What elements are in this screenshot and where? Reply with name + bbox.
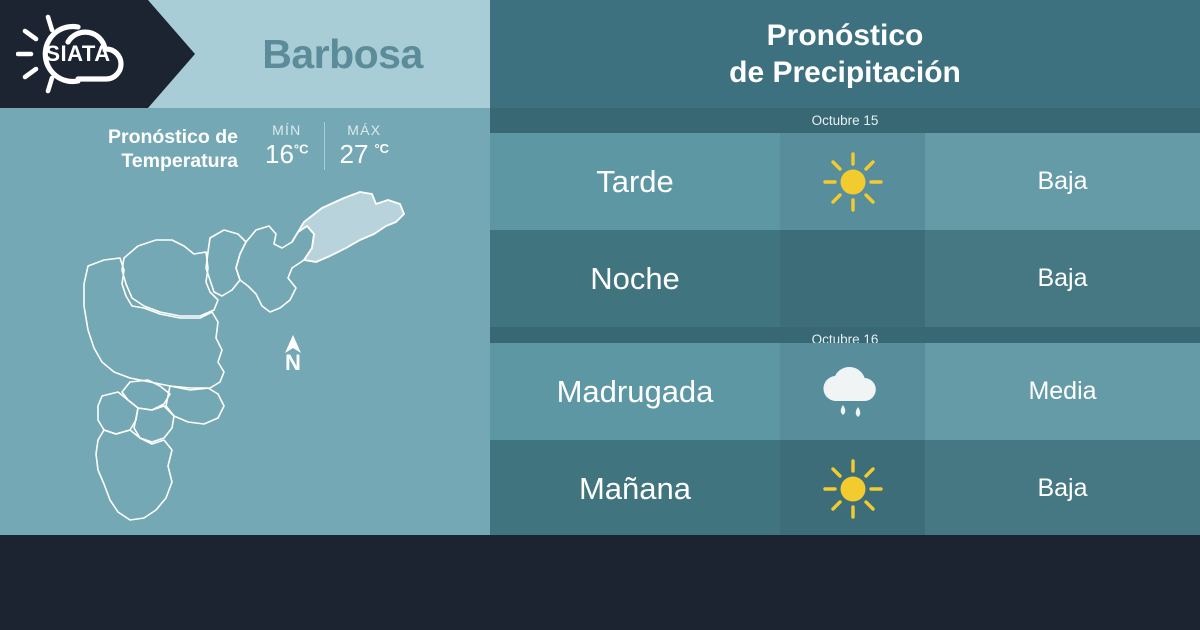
temperature-max-unit: °C [374,141,389,156]
precipitation-level: Baja [925,440,1200,537]
forecast-period: Tarde [490,133,780,230]
temperature-max-value: 27 [340,139,369,169]
precipitation-level: Media [925,343,1200,440]
forecast-row: Mañana Baja [490,440,1200,537]
temperature-max: MÁX 27°C [325,122,399,170]
temperature-summary: Pronóstico de Temperatura MÍN 16°C MÁX 2… [60,122,460,184]
temperature-min-value-wrap: 16°C [265,139,309,170]
compass-label: N [285,353,301,373]
forecast-title-line2: de Precipitación [729,54,961,91]
temperature-title-line1: Pronóstico de [108,126,238,148]
map-region-copacabana [206,230,246,296]
forecast-period: Mañana [490,440,780,537]
forecast-title-line1: Pronóstico [767,17,924,54]
precipitation-level: Baja [925,230,1200,327]
date-band-day1: Octubre 15 [490,108,1200,133]
map-region-la-estrella [134,406,174,442]
forecast-row: Madrugada Media [490,343,1200,440]
temperature-max-value-wrap: 27°C [340,139,390,170]
temperature-min-label: MÍN [265,122,309,138]
moon-rain-cloud-icon [817,359,889,425]
sun-cloud-icon: SIATA [16,13,140,95]
footer: @siatamedellin www.siata.gov.co Con el a… [0,535,1200,630]
temperature-title: Pronóstico de Temperatura [60,122,238,173]
forecast-icon-cell [780,440,925,537]
map-region-barbosa-highlighted [292,192,404,262]
temperature-panel: SIATA Barbosa Pronóstico de Temperatura … [0,0,490,535]
temperature-min-unit: °C [294,141,309,156]
sun-icon [822,151,884,213]
precipitation-panel: Pronóstico de Precipitación Octubre 15 T… [490,0,1200,535]
precipitation-level: Baja [925,133,1200,230]
weather-forecast-poster: SIATA Barbosa Pronóstico de Temperatura … [0,0,1200,630]
map-region-girardota [122,240,218,316]
sun-icon [822,458,884,520]
map-region-caldas [96,430,172,520]
forecast-icon-cell [780,230,925,327]
map-region-sabaneta [98,392,138,434]
temperature-title-line2: Temperatura [121,150,238,172]
svg-text:SIATA: SIATA [45,41,110,66]
map-region-medellin [84,258,224,390]
forecast-period: Madrugada [490,343,780,440]
forecast-row: Noche Baja [490,230,1200,327]
forecast-row: Tarde Baja [490,133,1200,230]
temperature-min: MÍN 16°C [256,122,325,170]
forecast-icon-cell [780,343,925,440]
temperature-max-label: MÁX [340,122,390,138]
compass: N [276,333,310,379]
forecast-title: Pronóstico de Precipitación [490,0,1200,108]
map-svg [60,182,460,532]
map-region-envigado [166,386,224,424]
aburra-valley-map [60,182,460,532]
map-region-bello [236,226,314,312]
city-name: Barbosa [195,0,490,108]
forecast-icon-cell [780,133,925,230]
forecast-period: Noche [490,230,780,327]
temperature-min-value: 16 [265,139,294,169]
moon-icon [825,251,881,307]
